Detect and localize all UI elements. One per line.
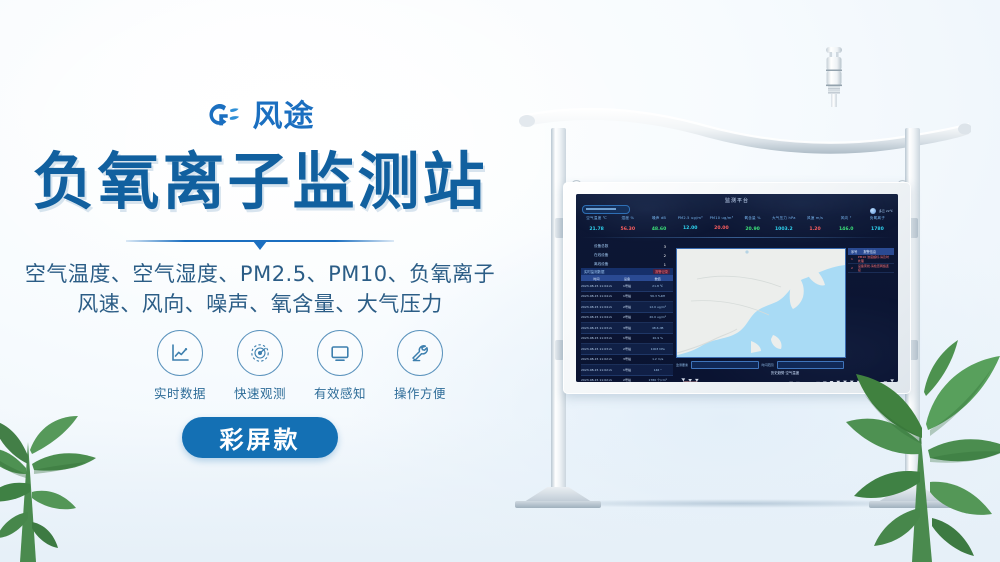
feature-label: 实时数据 bbox=[148, 383, 212, 402]
table-cell: 2023-08-15 11:02:22 bbox=[581, 368, 612, 372]
table-cell: 3号站 bbox=[612, 326, 643, 330]
map-control-select-2[interactable] bbox=[777, 361, 844, 369]
table-column-headers: 时间设备数值 bbox=[581, 275, 673, 281]
table-cell: 1003 hPa bbox=[642, 347, 673, 351]
table-cell: 20.0 ug/m³ bbox=[642, 315, 673, 319]
table-title: 实时监测数据 bbox=[584, 269, 604, 274]
metric-label: PM2.5 ug/m³ bbox=[675, 216, 706, 220]
brand-name: 风途 bbox=[253, 102, 315, 132]
table-cell: 20.9 % bbox=[642, 336, 673, 340]
subtitle-line-2: 风速、风向、噪声、氧含量、大气压力 bbox=[0, 288, 520, 318]
map-panel[interactable] bbox=[676, 248, 846, 358]
table-cell: 1号站 bbox=[612, 336, 643, 340]
metric-separator bbox=[581, 237, 893, 238]
metric-cards: 空气温度 ℃21.78湿度 %56.30噪声 dB48.60PM2.5 ug/m… bbox=[581, 216, 893, 238]
alarm-no: 2 bbox=[851, 266, 853, 270]
brand-logo: 风途 bbox=[206, 100, 315, 134]
table-cell: 2023-08-15 11:03:22 bbox=[581, 326, 612, 330]
table-cell: 2023-08-15 11:04:22 bbox=[581, 305, 612, 309]
table-row[interactable]: 2023-08-15 11:03:223号站48.6 dB bbox=[581, 323, 673, 334]
alarm-no: 1 bbox=[851, 257, 853, 261]
table-header: 实时监测数据 报警记录 bbox=[581, 268, 673, 275]
table-cell: 2号站 bbox=[612, 378, 643, 382]
data-table[interactable]: 实时监测数据 报警记录 时间设备数值 2023-08-15 11:04:221号… bbox=[581, 268, 673, 379]
feature-label: 快速观测 bbox=[228, 383, 292, 402]
table-row[interactable]: 2023-08-15 11:04:222号站20.0 ug/m³ bbox=[581, 313, 673, 324]
promo-banner: 风途 负氧离子监测站 空气温度、空气湿度、PM2.5、PM10、负氧离子 风速、… bbox=[0, 0, 1000, 562]
metric-value: 56.30 bbox=[612, 227, 643, 232]
table-body: 2023-08-15 11:04:221号站21.8 ℃2023-08-15 1… bbox=[581, 281, 673, 382]
table-cell: 1780 个/cm³ bbox=[642, 378, 673, 382]
table-cell: 1号站 bbox=[612, 284, 643, 288]
line-chart-icon bbox=[168, 341, 192, 365]
metric-value: 1780 bbox=[862, 227, 893, 232]
table-cell: 48.6 dB bbox=[642, 326, 673, 330]
device-stats: 设备总数3在线设备2离线设备1 bbox=[594, 244, 666, 271]
table-row[interactable]: 2023-08-15 11:03:222号站1003 hPa bbox=[581, 344, 673, 355]
alarm-text: 设备离线,请检查网络连接 bbox=[858, 264, 891, 272]
divider bbox=[126, 238, 394, 250]
feature-icon-ring bbox=[237, 330, 283, 376]
stat-key: 设备总数 bbox=[594, 244, 608, 249]
metric-value: 48.60 bbox=[643, 227, 674, 232]
stat-value: 3 bbox=[664, 244, 666, 249]
alarm-panel-header: 序号 报警信息 bbox=[848, 248, 894, 255]
table-cell: 2023-08-15 11:02:22 bbox=[581, 357, 612, 361]
table-cell: 2023-08-15 11:03:22 bbox=[581, 347, 612, 351]
feature-label: 操作方便 bbox=[388, 383, 452, 402]
map-controls[interactable]: 监测要素 时间范围 bbox=[676, 360, 844, 369]
trend-line-chart bbox=[676, 376, 894, 382]
weather-sun-icon bbox=[870, 208, 876, 214]
feature-icon-ring bbox=[397, 330, 443, 376]
table-column-header: 时间 bbox=[581, 276, 612, 281]
table-cell: 2023-08-15 11:03:22 bbox=[581, 336, 612, 340]
base-foot-left bbox=[515, 501, 601, 508]
subtitle-line-1: 空气温度、空气湿度、PM2.5、PM10、负氧离子 bbox=[0, 258, 520, 288]
table-cell: 56.3 %RH bbox=[642, 294, 673, 298]
table-cell: 2023-08-15 11:04:22 bbox=[581, 294, 612, 298]
metric-card: 大气压力 hPa1003.2 bbox=[768, 216, 799, 238]
feature-item-easy-operation: 操作方便 bbox=[388, 330, 452, 402]
fengtu-g-leaf-logo-icon bbox=[206, 100, 246, 134]
table-cell: 1号站 bbox=[612, 368, 643, 372]
station-selector[interactable] bbox=[582, 205, 630, 214]
map-control-select-1[interactable] bbox=[691, 361, 758, 369]
table-cell: 2号站 bbox=[612, 305, 643, 309]
canopy-awning bbox=[519, 102, 971, 162]
table-row[interactable]: 2023-08-15 11:04:221号站21.8 ℃ bbox=[581, 281, 673, 292]
metric-card: 负氧离子1780 bbox=[862, 216, 893, 238]
alarm-badge[interactable]: 报警记录 bbox=[653, 269, 670, 274]
metric-card: 空气温度 ℃21.78 bbox=[581, 216, 612, 238]
stat-key: 离线设备 bbox=[594, 262, 608, 267]
metric-label: 噪声 dB bbox=[643, 216, 674, 221]
stat-value: 2 bbox=[664, 253, 666, 258]
stat-value: 1 bbox=[664, 262, 666, 267]
table-cell: 2023-08-15 11:04:22 bbox=[581, 284, 612, 288]
table-cell: 2023-08-15 11:04:22 bbox=[581, 315, 612, 319]
monitoring-station-kiosk: 监测平台 多云 22℃ 空气温度 ℃21.78湿度 %56.30噪声 dB48.… bbox=[505, 40, 985, 530]
table-cell: 1.2 m/s bbox=[642, 357, 673, 361]
metric-value: 1003.2 bbox=[768, 227, 799, 232]
metric-value: 21.78 bbox=[581, 227, 612, 232]
metric-card: 噪声 dB48.60 bbox=[643, 216, 674, 238]
metric-value: 12.00 bbox=[675, 226, 706, 231]
table-row[interactable]: 2023-08-15 11:04:222号站12.0 ug/m³ bbox=[581, 302, 673, 313]
table-cell: 3号站 bbox=[612, 357, 643, 361]
stat-key: 在线设备 bbox=[594, 253, 608, 258]
feature-label: 有效感知 bbox=[308, 383, 372, 402]
map-control-label-1: 监测要素 bbox=[676, 363, 688, 367]
alarm-text: PM10 浓度超标,请及时处理 bbox=[858, 255, 891, 263]
alarm-row[interactable]: 1PM10 浓度超标,请及时处理 bbox=[848, 255, 894, 264]
model-badge-label: 彩屏款 bbox=[220, 420, 301, 455]
table-column-header: 设备 bbox=[612, 276, 643, 281]
table-column-header: 数值 bbox=[642, 276, 673, 281]
dashboard-title: 监测平台 bbox=[576, 197, 898, 204]
metric-card: 风向 °146.0 bbox=[831, 216, 862, 238]
chart-title: 历史趋势 空气温度 bbox=[676, 370, 894, 375]
metric-label: 空气温度 ℃ bbox=[581, 216, 612, 221]
metric-value: 146.0 bbox=[831, 227, 862, 232]
table-cell: 2023-08-15 11:02:22 bbox=[581, 378, 612, 382]
stat-row: 离线设备1 bbox=[594, 262, 666, 267]
alarm-panel: 序号 报警信息 1PM10 浓度超标,请及时处理2设备离线,请检查网络连接 bbox=[848, 248, 894, 368]
table-cell: 2号站 bbox=[612, 315, 643, 319]
table-row[interactable]: 2023-08-15 11:02:221号站146 ° bbox=[581, 365, 673, 376]
table-cell: 1号站 bbox=[612, 294, 643, 298]
feature-item-fast-observation: 快速观测 bbox=[228, 330, 292, 402]
table-row[interactable]: 2023-08-15 11:02:223号站1.2 m/s bbox=[581, 355, 673, 366]
feature-item-effective-sensing: 有效感知 bbox=[308, 330, 372, 402]
metric-label: 风速 m/s bbox=[799, 216, 830, 221]
metric-value: 20.90 bbox=[737, 227, 768, 232]
table-cell: 146 ° bbox=[642, 368, 673, 372]
metric-label: PM10 ug/m³ bbox=[706, 216, 737, 220]
weather-text: 多云 22℃ bbox=[879, 209, 893, 213]
table-row[interactable]: 2023-08-15 11:02:222号站1780 个/cm³ bbox=[581, 376, 673, 383]
table-cell: 21.8 ℃ bbox=[642, 284, 673, 288]
alarm-row[interactable]: 2设备离线,请检查网络连接 bbox=[848, 264, 894, 273]
metric-label: 氧含量 % bbox=[737, 216, 768, 221]
table-cell: 12.0 ug/m³ bbox=[642, 305, 673, 309]
feature-list: 实时数据 快速观测 bbox=[148, 330, 452, 402]
page-title: 负氧离子监测站 bbox=[0, 150, 520, 213]
ultrasonic-weather-sensor-icon bbox=[821, 46, 847, 108]
alarm-col-no: 序号 bbox=[851, 249, 857, 254]
base-foot-right bbox=[869, 501, 955, 508]
display-frame: 监测平台 多云 22℃ 空气温度 ℃21.78湿度 %56.30噪声 dB48.… bbox=[563, 182, 911, 394]
metric-label: 负氧离子 bbox=[862, 216, 893, 221]
alarm-list: 1PM10 浓度超标,请及时处理2设备离线,请检查网络连接 bbox=[848, 255, 894, 273]
stat-row: 设备总数3 bbox=[594, 244, 666, 249]
metric-label: 风向 ° bbox=[831, 216, 862, 221]
east-asia-map-icon bbox=[677, 249, 845, 357]
table-cell: 2号站 bbox=[612, 347, 643, 351]
metric-label: 湿度 % bbox=[612, 216, 643, 221]
divider-triangle-down-icon bbox=[253, 241, 267, 250]
radar-sensor-icon bbox=[248, 341, 272, 365]
wrench-icon bbox=[408, 341, 432, 365]
stat-row: 在线设备2 bbox=[594, 253, 666, 258]
metric-card: PM2.5 ug/m³12.00 bbox=[675, 216, 706, 238]
alarm-col-msg: 报警信息 bbox=[863, 249, 876, 254]
metric-label: 大气压力 hPa bbox=[768, 216, 799, 221]
metric-card: PM10 ug/m³20.00 bbox=[706, 216, 737, 238]
metric-card: 氧含量 %20.90 bbox=[737, 216, 768, 238]
hero-text-column: 风途 负氧离子监测站 空气温度、空气湿度、PM2.5、PM10、负氧离子 风速、… bbox=[0, 0, 520, 562]
table-row[interactable]: 2023-08-15 11:04:221号站56.3 %RH bbox=[581, 292, 673, 303]
table-row[interactable]: 2023-08-15 11:03:221号站20.9 % bbox=[581, 334, 673, 345]
monitor-display-icon bbox=[328, 341, 352, 365]
feature-icon-ring bbox=[157, 330, 203, 376]
model-badge-button[interactable]: 彩屏款 bbox=[182, 417, 338, 458]
display-screen[interactable]: 监测平台 多云 22℃ 空气温度 ℃21.78湿度 %56.30噪声 dB48.… bbox=[576, 194, 898, 382]
metric-card: 湿度 %56.30 bbox=[612, 216, 643, 238]
metric-value: 20.00 bbox=[706, 226, 737, 231]
trend-chart-panel: 历史趋势 空气温度 00:0001:0002:0003:0004:0005:00… bbox=[676, 370, 894, 379]
map-control-label-2: 时间范围 bbox=[762, 363, 774, 367]
feature-item-realtime-data: 实时数据 bbox=[148, 330, 212, 402]
metric-card: 风速 m/s1.20 bbox=[799, 216, 830, 238]
feature-icon-ring bbox=[317, 330, 363, 376]
metric-value: 1.20 bbox=[799, 227, 830, 232]
